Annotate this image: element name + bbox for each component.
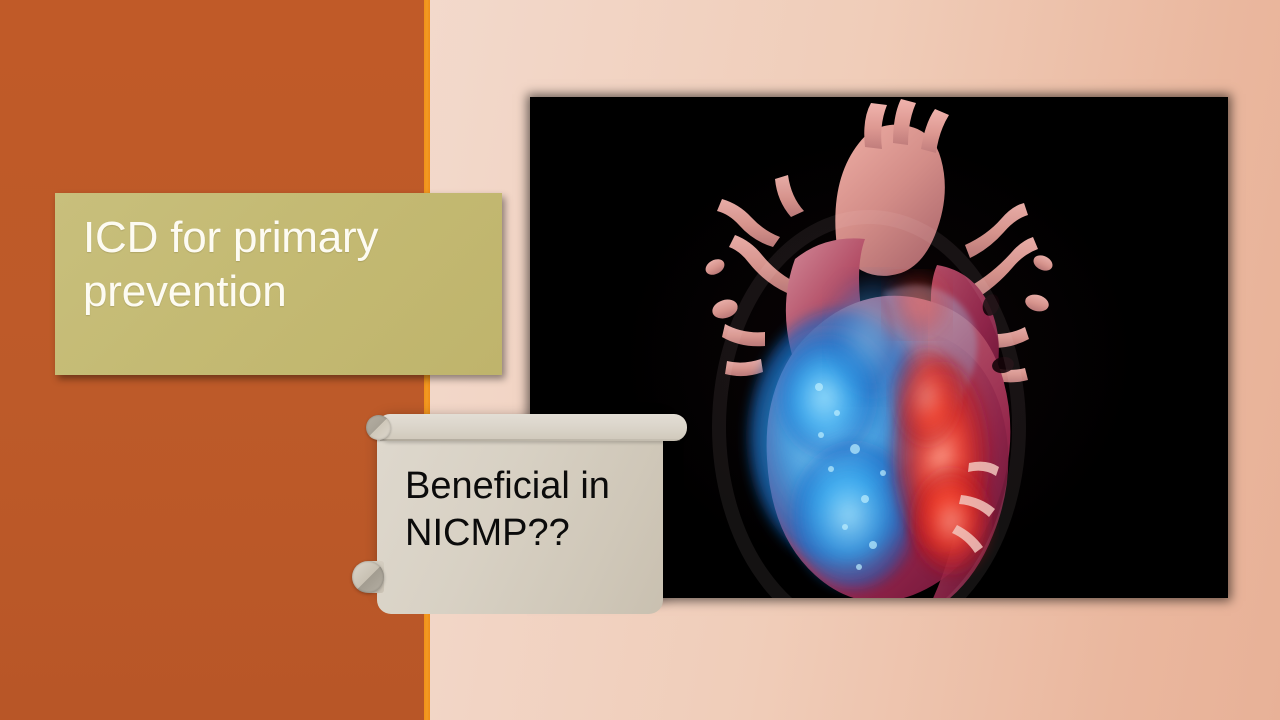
callout-top-curl-icon bbox=[366, 415, 391, 440]
callout-top-roll bbox=[377, 414, 687, 441]
heart-illustration-icon bbox=[669, 97, 1089, 598]
title-text-box: ICD for primary prevention bbox=[55, 193, 502, 375]
slide-title: ICD for primary prevention bbox=[83, 211, 478, 319]
callout-label: Beneficial in NICMP?? bbox=[405, 463, 663, 557]
scroll-callout: Beneficial in NICMP?? bbox=[352, 410, 690, 600]
slide: ICD for primary prevention Beneficial in… bbox=[0, 0, 1280, 720]
callout-roll-divider bbox=[380, 439, 680, 441]
callout-bottom-curl-icon bbox=[352, 561, 384, 593]
